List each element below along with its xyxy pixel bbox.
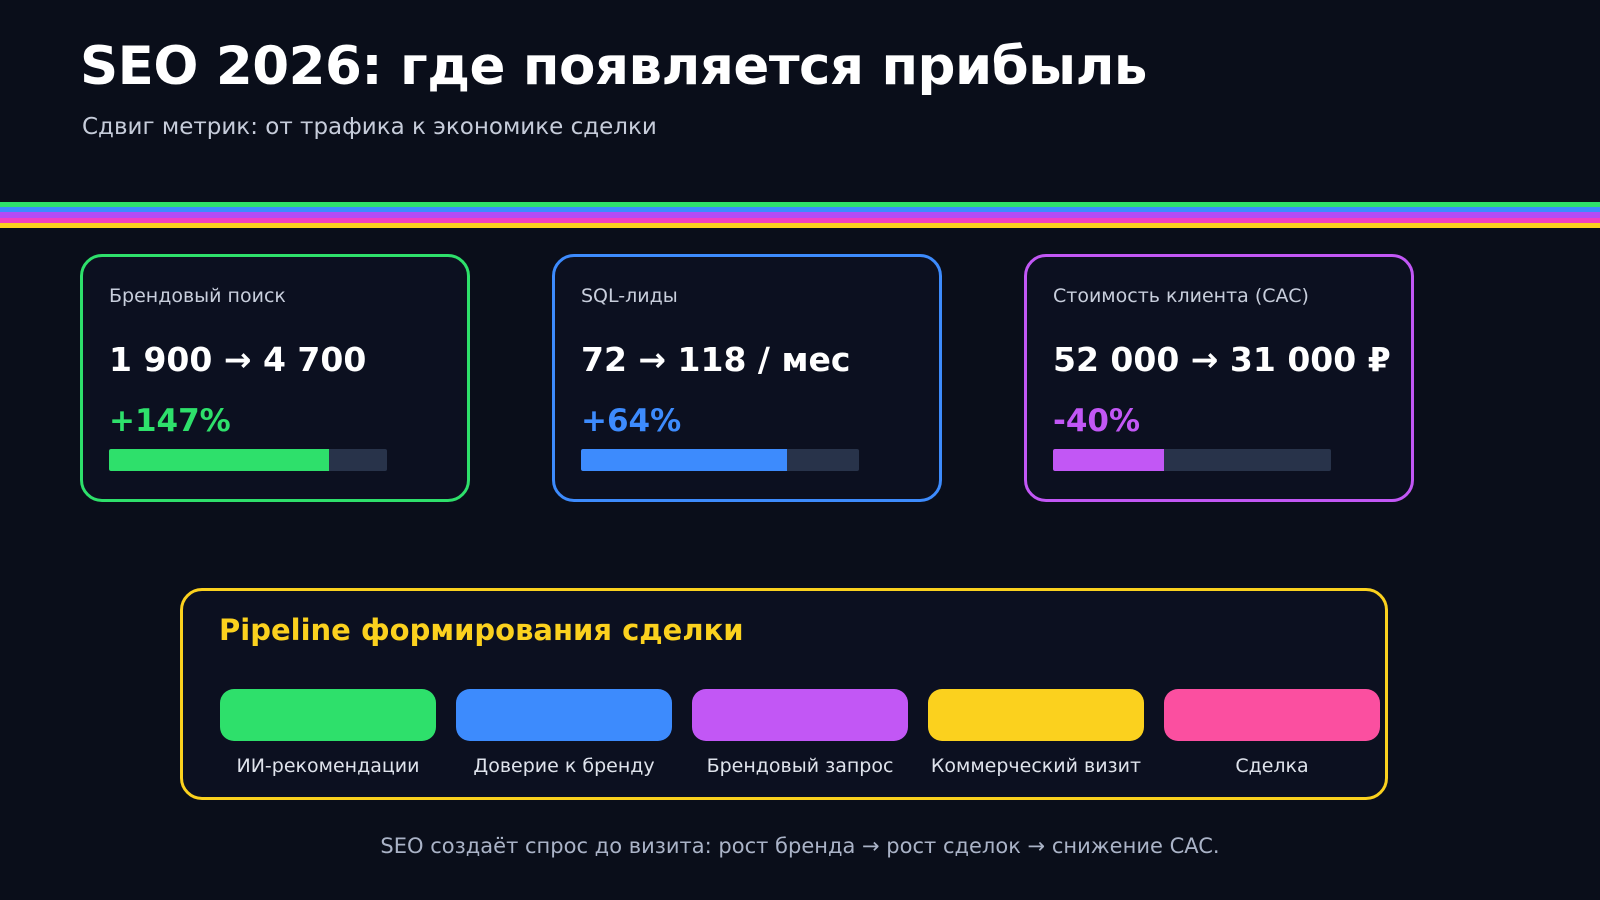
pipeline-step-label: Брендовый запрос: [692, 755, 908, 777]
kpi-label: Стоимость клиента (CAC): [1053, 285, 1385, 307]
pipeline-steps: ИИ-рекомендации Доверие к бренду Брендов…: [220, 689, 1380, 789]
kpi-progress-fill: [1053, 449, 1164, 471]
page-title: SEO 2026: где появляется прибыль: [80, 38, 1600, 96]
pipeline-step[interactable]: Брендовый запрос: [692, 689, 908, 777]
pipeline-step-label: Доверие к бренду: [456, 755, 672, 777]
pipeline-step-block: [928, 689, 1144, 741]
kpi-card-row: Брендовый поиск 1 900 → 4 700 +147% SQL-…: [0, 254, 1600, 508]
pipeline-step-block: [692, 689, 908, 741]
kpi-label: Брендовый поиск: [109, 285, 441, 307]
pipeline-step-label: ИИ-рекомендации: [220, 755, 436, 777]
kpi-card[interactable]: Стоимость клиента (CAC) 52 000 → 31 000 …: [1024, 254, 1414, 502]
kpi-value: 1 900 → 4 700: [109, 340, 441, 379]
pipeline-step-block: [220, 689, 436, 741]
pipeline-step-block: [1164, 689, 1380, 741]
kpi-progress-track: [581, 449, 859, 471]
pipeline-step-label: Сделка: [1164, 755, 1380, 777]
rainbow-divider: [0, 202, 1600, 228]
pipeline-step-label: Коммерческий визит: [928, 755, 1144, 777]
pipeline-title: Pipeline формирования сделки: [219, 613, 744, 647]
pipeline-step[interactable]: Коммерческий визит: [928, 689, 1144, 777]
kpi-delta: +147%: [109, 403, 441, 439]
kpi-label: SQL-лиды: [581, 285, 913, 307]
pipeline-step[interactable]: Сделка: [1164, 689, 1380, 777]
pipeline-panel: Pipeline формирования сделки ИИ-рекоменд…: [180, 588, 1388, 800]
pipeline-step[interactable]: Доверие к бренду: [456, 689, 672, 777]
pipeline-step-block: [456, 689, 672, 741]
header: SEO 2026: где появляется прибыль Сдвиг м…: [0, 0, 1600, 140]
footer-note: SEO создаёт спрос до визита: рост бренда…: [0, 834, 1600, 858]
kpi-progress-fill: [581, 449, 787, 471]
kpi-value: 72 → 118 / мес: [581, 340, 913, 379]
kpi-value: 52 000 → 31 000 ₽: [1053, 340, 1385, 379]
kpi-progress-fill: [109, 449, 329, 471]
kpi-delta: +64%: [581, 403, 913, 439]
kpi-card[interactable]: SQL-лиды 72 → 118 / мес +64%: [552, 254, 942, 502]
kpi-progress-track: [1053, 449, 1331, 471]
page-subtitle: Сдвиг метрик: от трафика к экономике сде…: [82, 114, 1600, 140]
kpi-delta: -40%: [1053, 403, 1385, 439]
kpi-card[interactable]: Брендовый поиск 1 900 → 4 700 +147%: [80, 254, 470, 502]
pipeline-step[interactable]: ИИ-рекомендации: [220, 689, 436, 777]
kpi-progress-track: [109, 449, 387, 471]
divider-stripe: [0, 223, 1600, 228]
